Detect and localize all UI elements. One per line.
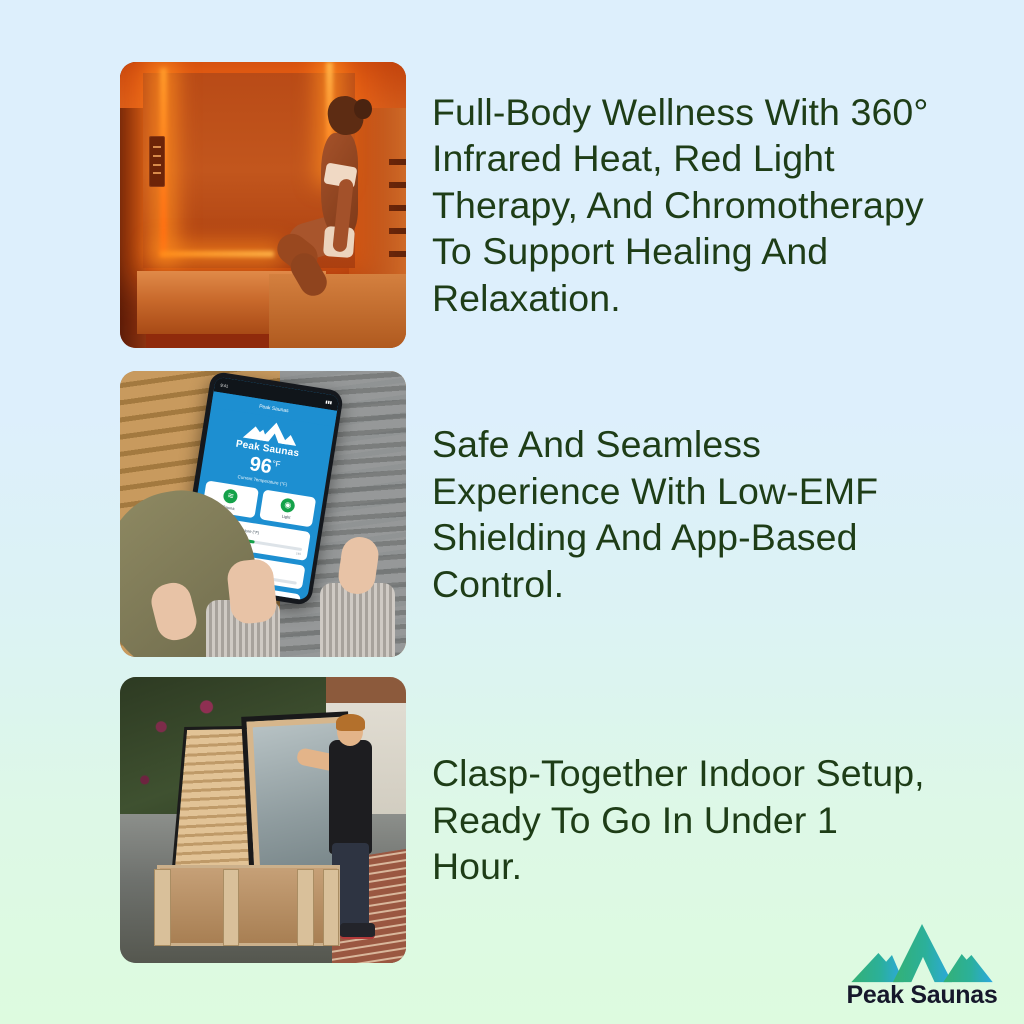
feature-row-safe-and-seamless: 9:41 ▮▮▮ Peak Saunas Peak: [120, 371, 984, 657]
brand-name: Peak Saunas: [842, 982, 1002, 1008]
feature-row-clasp-together-setup: Clasp-Together Indoor Setup, Ready To Go…: [120, 677, 984, 963]
status-time: 9:41: [220, 382, 228, 388]
target-temperature-max: 140: [296, 551, 302, 556]
feature-image-crate-setup: [120, 677, 406, 963]
status-icons: ▮▮▮: [325, 399, 332, 405]
promo-poster: Full-Body Wellness With 360° Infrared He…: [0, 0, 1024, 1024]
person-silhouette: [280, 96, 383, 325]
brand-logo: Peak Saunas: [842, 922, 1002, 1008]
feature-image-phone-app: 9:41 ▮▮▮ Peak Saunas Peak: [120, 371, 406, 657]
app-card-light[interactable]: ◉ Light: [259, 489, 316, 527]
app-bar-title: Peak Saunas: [259, 403, 289, 414]
feature-image-sauna-interior: [120, 62, 406, 348]
sauna-icon: ≋: [223, 488, 239, 504]
feature-text-safe-and-seamless: Safe And Seamless Experience With Low-EM…: [432, 421, 932, 607]
feature-row-full-body-wellness: Full-Body Wellness With 360° Infrared He…: [120, 62, 984, 348]
feature-text-clasp-together-setup: Clasp-Together Indoor Setup, Ready To Go…: [432, 750, 932, 890]
feature-text-full-body-wellness: Full-Body Wellness With 360° Infrared He…: [432, 89, 932, 322]
sauna-control-panel-icon: [149, 136, 165, 187]
finger-tapping: [226, 558, 278, 625]
bulb-icon: ◉: [280, 497, 296, 513]
mountain-logo-icon: [848, 922, 996, 984]
person-lifting-panel: [329, 740, 372, 854]
